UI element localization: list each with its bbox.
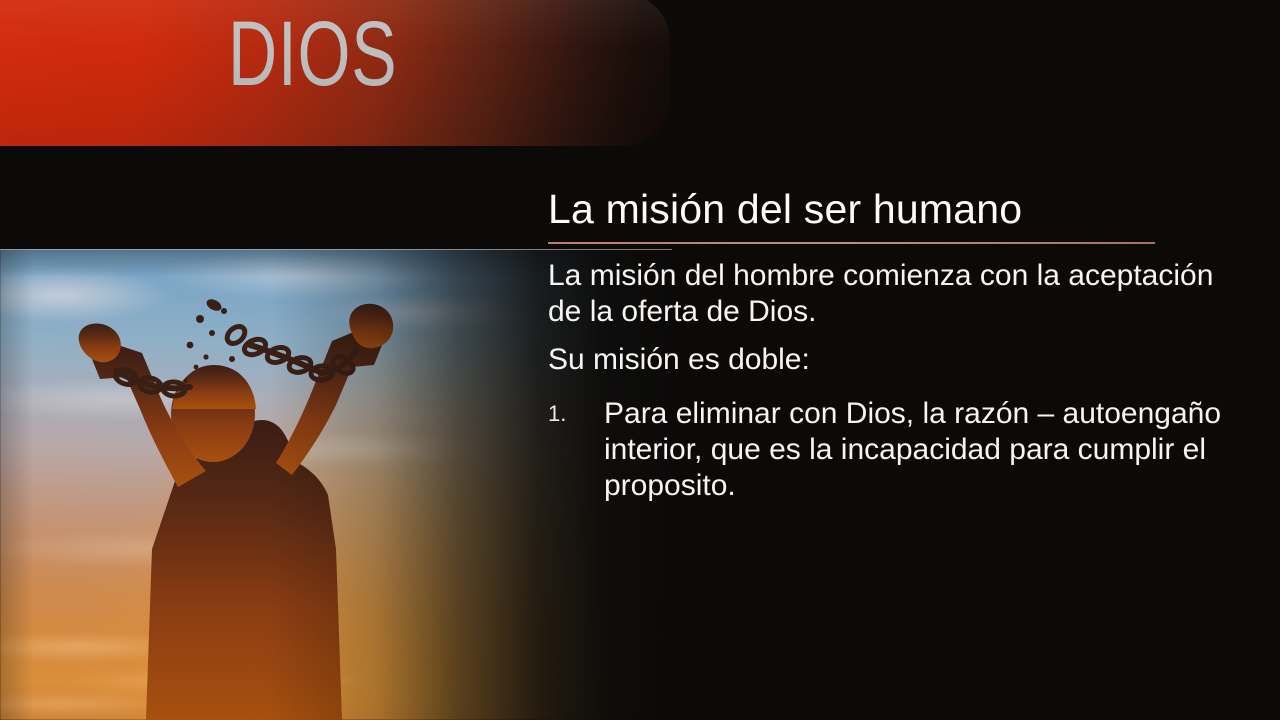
list-item: 1. Para eliminar con Dios, la razón – au… — [548, 396, 1248, 504]
list-item-text: Para eliminar con Dios, la razón – autoe… — [604, 397, 1221, 502]
list-item-marker: 1. — [548, 399, 566, 429]
banner-title: DIOS — [228, 0, 397, 108]
slide-title: La misión del ser humano — [548, 182, 1248, 236]
presentation-slide: DIOS os — [0, 0, 1280, 720]
body-paragraph: Su misión es doble: — [548, 342, 1238, 378]
numbered-list: 1. Para eliminar con Dios, la razón – au… — [548, 396, 1248, 504]
top-banner: DIOS — [0, 0, 670, 146]
body-text-block: La misión del hombre comienza con la ace… — [548, 258, 1248, 504]
title-underline-rule — [548, 242, 1155, 244]
content-column: La misión del ser humano La misión del h… — [548, 182, 1248, 504]
body-paragraph: La misión del hombre comienza con la ace… — [548, 258, 1238, 330]
